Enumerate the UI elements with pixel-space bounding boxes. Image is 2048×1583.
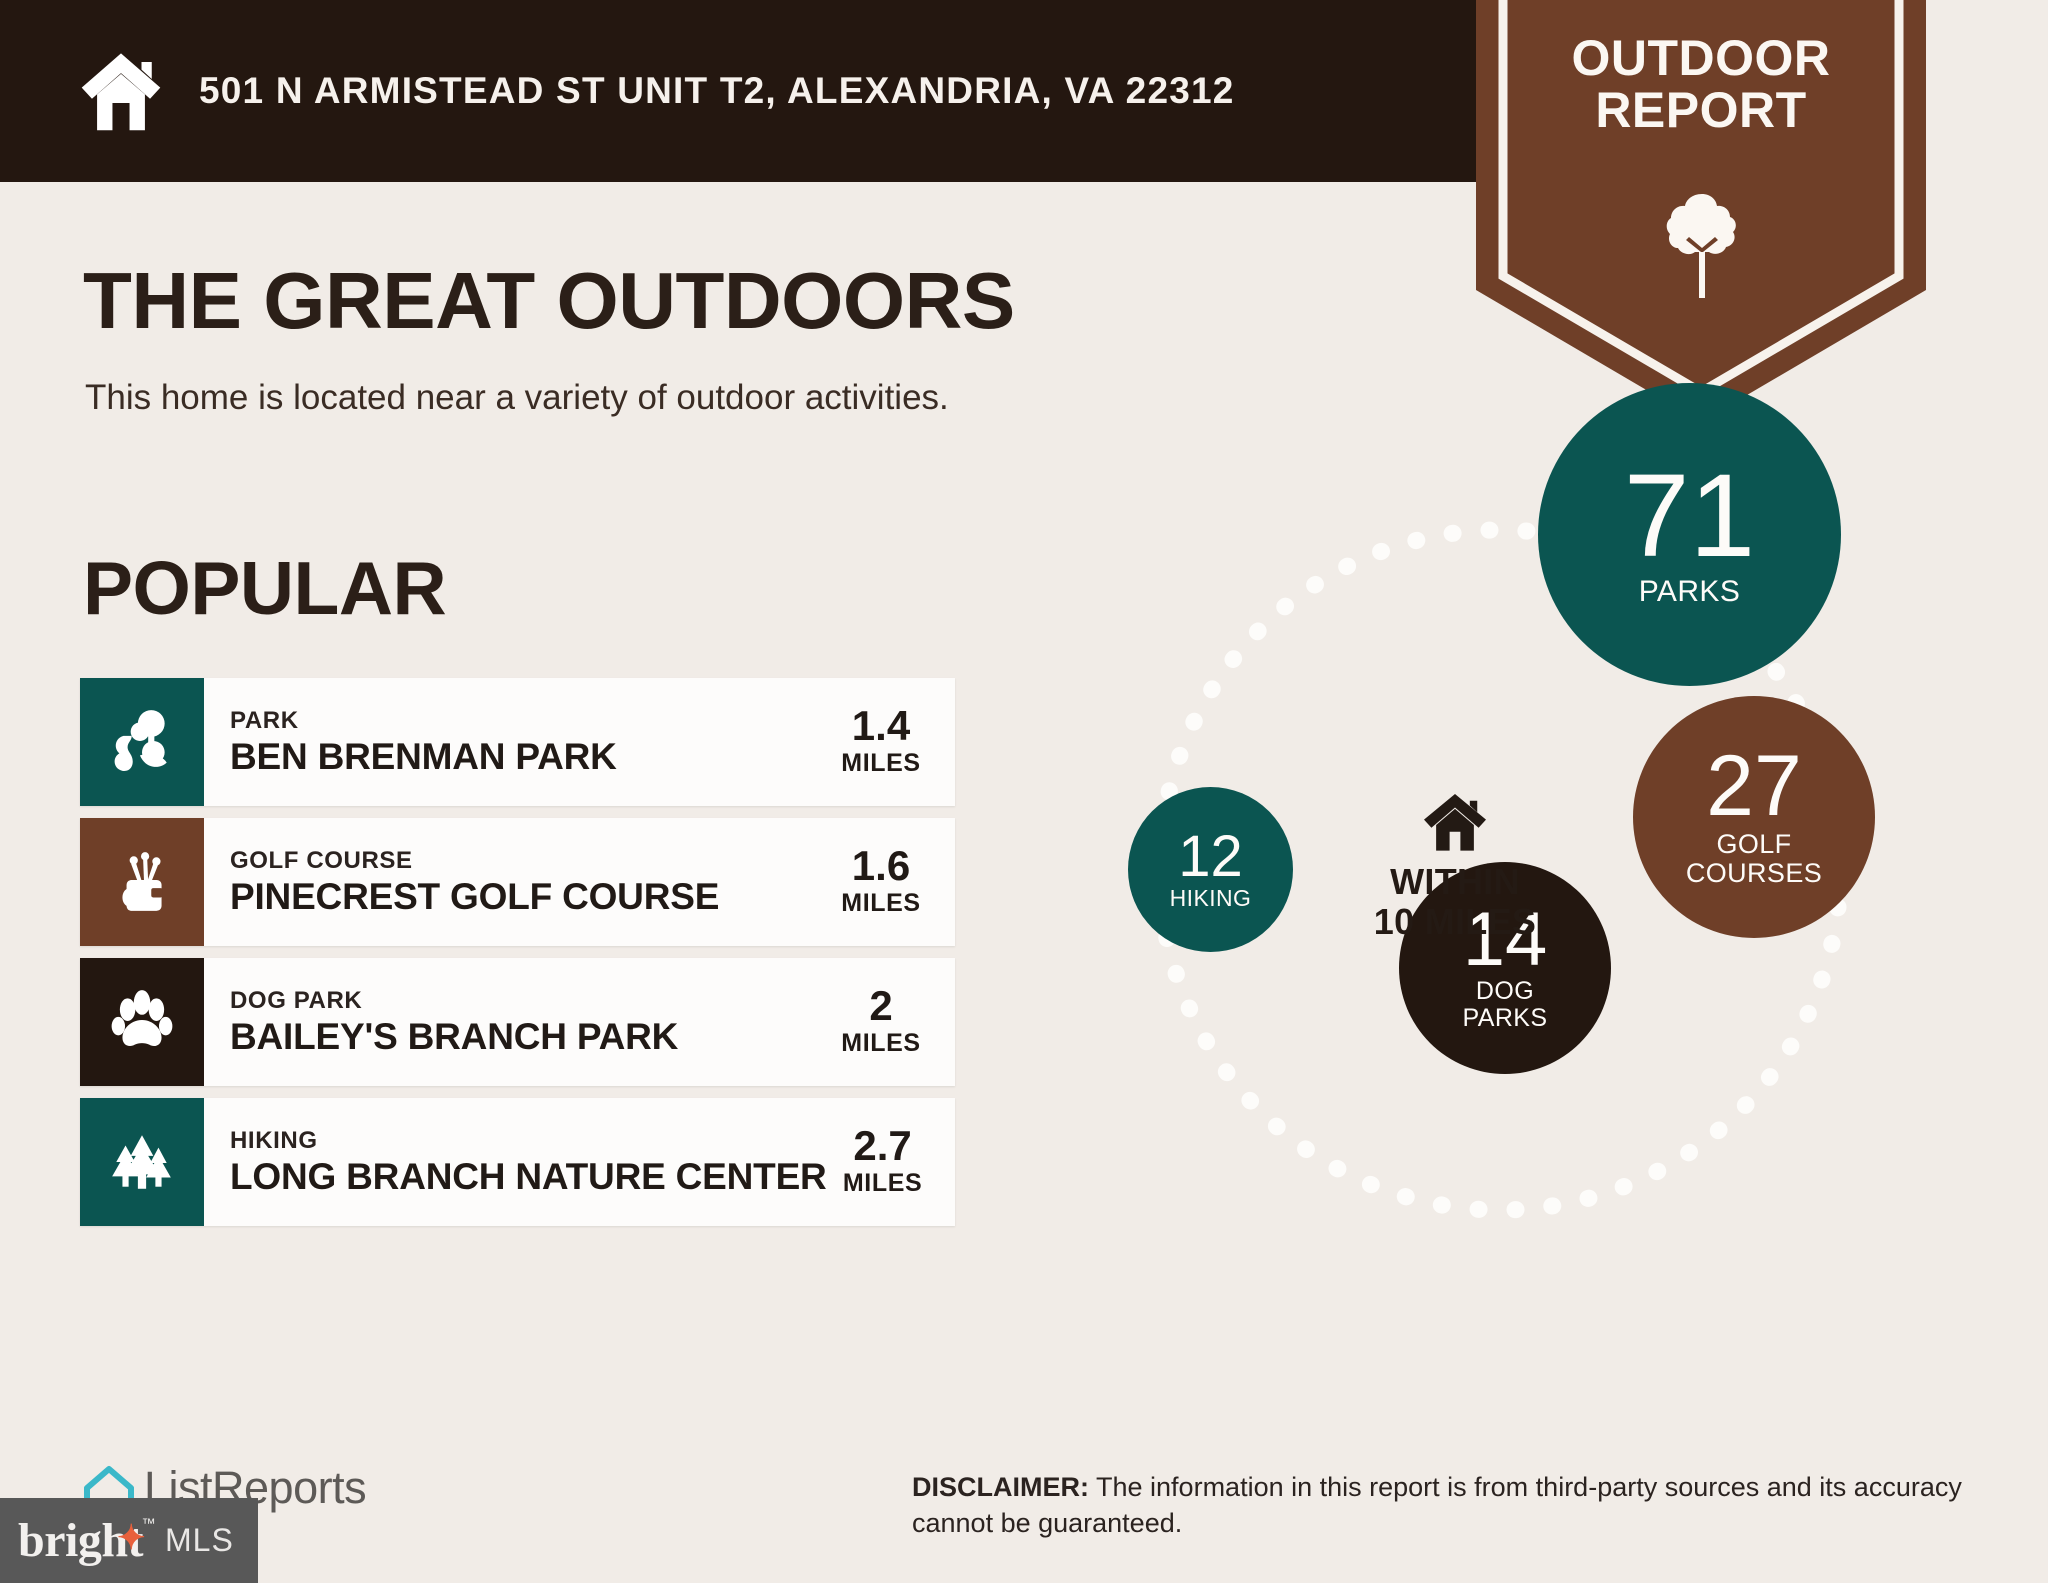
poi-category: PARK [230, 706, 825, 736]
poi-name: PINECREST GOLF COURSE [230, 876, 825, 919]
poi-category: HIKING [230, 1126, 827, 1156]
bubble-golf-label-1: GOLF [1716, 830, 1791, 859]
bright-wordmark: bright ™ ✦ [18, 1513, 143, 1568]
poi-distance-value: 2.7 [827, 1125, 939, 1167]
paw-print-icon [80, 958, 204, 1086]
list-item[interactable]: PARK BEN BRENMAN PARK 1.4 MILES [80, 678, 955, 806]
poi-distance-unit: MILES [827, 1167, 939, 1200]
park-trees-icon [80, 678, 204, 806]
badge-line-1: OUTDOOR [1466, 32, 1936, 84]
poi-distance-unit: MILES [825, 747, 937, 780]
header-bar: 501 N ARMISTEAD ST UNIT T2, ALEXANDRIA, … [0, 0, 1493, 182]
poi-name: LONG BRANCH NATURE CENTER [230, 1156, 827, 1199]
bubble-hiking[interactable]: 12 HIKING [1128, 787, 1293, 952]
golf-bag-icon [80, 818, 204, 946]
diagram-center-text: WITHIN 10 MILES [1335, 862, 1575, 943]
poi-distance-unit: MILES [825, 887, 937, 920]
poi-name: BAILEY'S BRANCH PARK [230, 1016, 825, 1059]
poi-distance: 1.4 MILES [825, 705, 943, 780]
list-item[interactable]: DOG PARK BAILEY'S BRANCH PARK 2 MILES [80, 958, 955, 1086]
pine-trees-icon [80, 1098, 204, 1226]
bubble-parks-value: 71 [1624, 460, 1755, 572]
star-icon: ✦ [117, 1522, 145, 1556]
poi-category: GOLF COURSE [230, 846, 825, 876]
popular-heading: POPULAR [83, 545, 446, 631]
tree-icon [1662, 190, 1742, 300]
home-icon [78, 50, 164, 132]
bubble-hiking-label: HIKING [1170, 886, 1252, 911]
poi-distance: 2 MILES [825, 985, 943, 1060]
poi-distance-value: 1.6 [825, 845, 937, 887]
outdoor-report-badge: OUTDOOR REPORT [1466, 0, 1936, 430]
poi-distance: 2.7 MILES [827, 1125, 945, 1200]
poi-category: DOG PARK [230, 986, 825, 1016]
poi-name: BEN BRENMAN PARK [230, 736, 825, 779]
poi-distance: 1.6 MILES [825, 845, 943, 920]
bubble-hiking-value: 12 [1178, 829, 1243, 884]
diagram-center: WITHIN 10 MILES [1335, 790, 1575, 943]
bright-mls-watermark: bright ™ ✦ MLS [0, 1498, 258, 1583]
list-item[interactable]: HIKING LONG BRANCH NATURE CENTER 2.7 MIL… [80, 1098, 955, 1226]
bubble-golf-courses[interactable]: 27 GOLF COURSES [1633, 696, 1875, 938]
header-address: 501 N ARMISTEAD ST UNIT T2, ALEXANDRIA, … [199, 70, 1235, 112]
center-line-2: 10 MILES [1335, 902, 1575, 942]
badge-title: OUTDOOR REPORT [1466, 32, 1936, 136]
bubble-parks[interactable]: 71 PARKS [1538, 383, 1841, 686]
bubble-golf-value: 27 [1706, 746, 1802, 828]
disclaimer: DISCLAIMER: The information in this repo… [912, 1470, 1987, 1542]
bubble-dog-label-1: DOG [1476, 978, 1534, 1005]
bubble-dog-label-2: PARKS [1463, 1005, 1548, 1032]
page-title: THE GREAT OUTDOORS [83, 255, 1015, 347]
within-10-miles-diagram: 71 PARKS 27 GOLF COURSES 14 DOG PARKS 12… [1080, 455, 2000, 1365]
poi-distance-unit: MILES [825, 1027, 937, 1060]
bubble-parks-label: PARKS [1639, 576, 1740, 608]
outdoor-report-page: 501 N ARMISTEAD ST UNIT T2, ALEXANDRIA, … [0, 0, 2048, 1583]
home-icon [1421, 790, 1489, 852]
mls-text: MLS [165, 1522, 234, 1559]
center-line-1: WITHIN [1335, 862, 1575, 902]
poi-distance-value: 2 [825, 985, 937, 1027]
list-item[interactable]: GOLF COURSE PINECREST GOLF COURSE 1.6 MI… [80, 818, 955, 946]
disclaimer-label: DISCLAIMER: [912, 1472, 1089, 1502]
poi-distance-value: 1.4 [825, 705, 937, 747]
popular-list: PARK BEN BRENMAN PARK 1.4 MILES [80, 678, 955, 1238]
bubble-golf-label-2: COURSES [1686, 859, 1822, 888]
badge-line-2: REPORT [1466, 84, 1936, 136]
page-subtitle: This home is located near a variety of o… [85, 378, 949, 418]
